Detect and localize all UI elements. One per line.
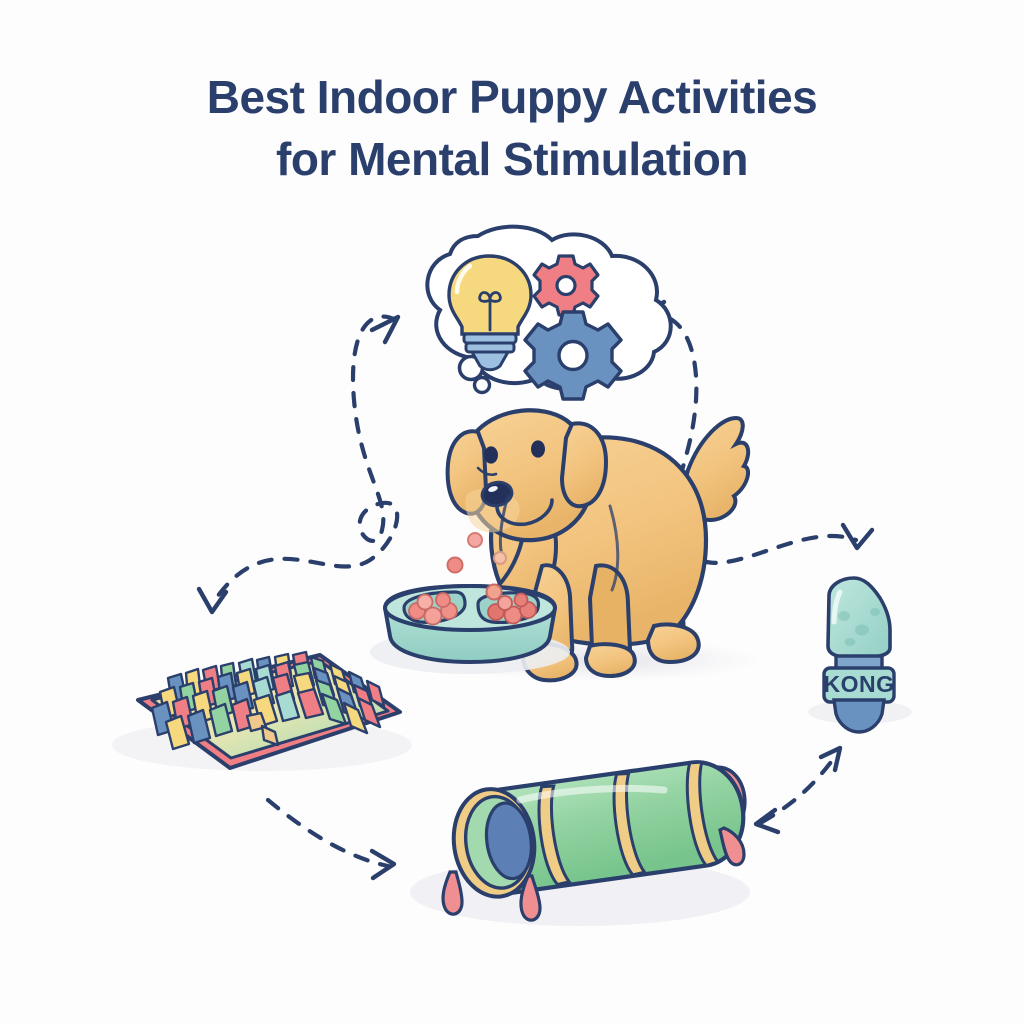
dog-eye-left bbox=[484, 446, 498, 463]
kong-base bbox=[834, 700, 884, 732]
kong-label-text: KONG bbox=[824, 671, 895, 697]
snuffle-mat bbox=[112, 652, 412, 771]
arrow-bubble-to-kong-head-right bbox=[843, 525, 872, 548]
kong-top-body bbox=[828, 578, 890, 658]
arrow-mat-to-bubble bbox=[215, 317, 397, 600]
arrow-tunnel-to-kong-head-up bbox=[821, 748, 840, 770]
kibble-dot bbox=[448, 558, 463, 573]
illustration-layer: KONG bbox=[0, 0, 1024, 1024]
arrow-mat-to-bubble-head-top bbox=[372, 317, 398, 342]
mental-stimulation-thought-bubble bbox=[427, 227, 670, 399]
gear-icon-large bbox=[525, 312, 621, 399]
dog-hind-paw-near bbox=[586, 644, 635, 676]
dog-eye-right bbox=[531, 440, 545, 457]
kong-stuffed-toy[interactable]: KONG bbox=[808, 578, 912, 732]
arrow-mat-to-tunnel bbox=[268, 800, 388, 866]
puzzle-feeder-bowl bbox=[370, 585, 570, 675]
kibble-in-paw bbox=[487, 585, 502, 600]
puppy-with-puzzle-feeder bbox=[370, 410, 760, 682]
kibble-dot bbox=[494, 552, 506, 564]
infographic-canvas: Best Indoor Puppy Activities for Mental … bbox=[0, 0, 1024, 1024]
dog-ear-right bbox=[562, 423, 606, 506]
kibble-dot bbox=[468, 533, 482, 547]
gear-icon-small bbox=[534, 256, 598, 315]
tunnel-strap-left bbox=[443, 872, 462, 914]
thought-trail-bubble-small bbox=[475, 378, 490, 393]
dog-hind-paw-far bbox=[648, 625, 699, 662]
play-tunnel bbox=[410, 756, 750, 926]
